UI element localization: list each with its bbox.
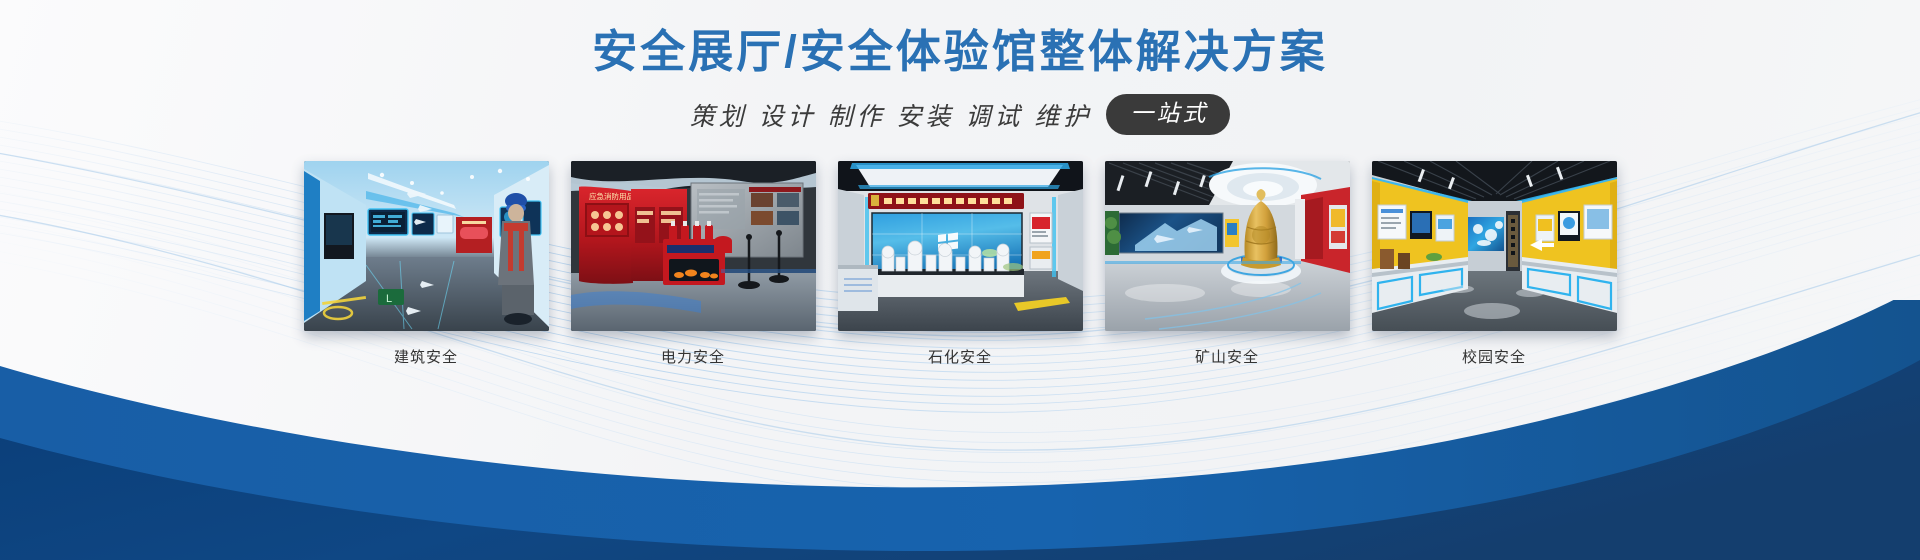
card-photo-power[interactable]: 应急消防用品 <box>571 161 816 331</box>
mining-hall-image <box>1105 161 1350 331</box>
construction-hall-image: L <box>304 161 549 331</box>
card-photo-campus[interactable] <box>1372 161 1617 331</box>
card-caption: 矿山安全 <box>1195 346 1259 367</box>
subtitle-row: 策划 设计 制作 安装 调试 维护 一站式 <box>690 94 1231 135</box>
case-card[interactable]: L <box>304 161 549 367</box>
campus-safety-hall-image <box>1372 161 1617 331</box>
banner-content: 安全展厅/安全体验馆整体解决方案 策划 设计 制作 安装 调试 维护 一站式 <box>0 0 1920 560</box>
case-card[interactable]: 石化安全 <box>838 161 1083 367</box>
card-caption: 石化安全 <box>928 346 992 367</box>
card-photo-construction[interactable]: L <box>304 161 549 331</box>
card-caption: 建筑安全 <box>394 346 458 367</box>
svg-text:L: L <box>386 293 392 305</box>
page-title: 安全展厅/安全体验馆整体解决方案 <box>592 24 1328 80</box>
card-photo-petrochemical[interactable] <box>838 161 1083 331</box>
card-caption: 校园安全 <box>1462 346 1526 367</box>
case-card-list: L <box>304 161 1617 367</box>
case-card[interactable]: 校园安全 <box>1372 161 1617 367</box>
case-card[interactable]: 应急消防用品 <box>571 161 816 367</box>
svg-text:应急消防用品: 应急消防用品 <box>589 191 634 201</box>
power-safety-hall-image: 应急消防用品 <box>571 161 816 331</box>
case-card[interactable]: 矿山安全 <box>1105 161 1350 367</box>
service-steps-text: 策划 设计 制作 安装 调试 维护 <box>690 97 1093 133</box>
card-caption: 电力安全 <box>661 346 725 367</box>
promo-banner: 安全展厅/安全体验馆整体解决方案 策划 设计 制作 安装 调试 维护 一站式 <box>0 0 1920 560</box>
card-photo-mining[interactable] <box>1105 161 1350 331</box>
petrochemical-hall-image <box>838 161 1083 331</box>
one-stop-badge: 一站式 <box>1106 94 1230 135</box>
